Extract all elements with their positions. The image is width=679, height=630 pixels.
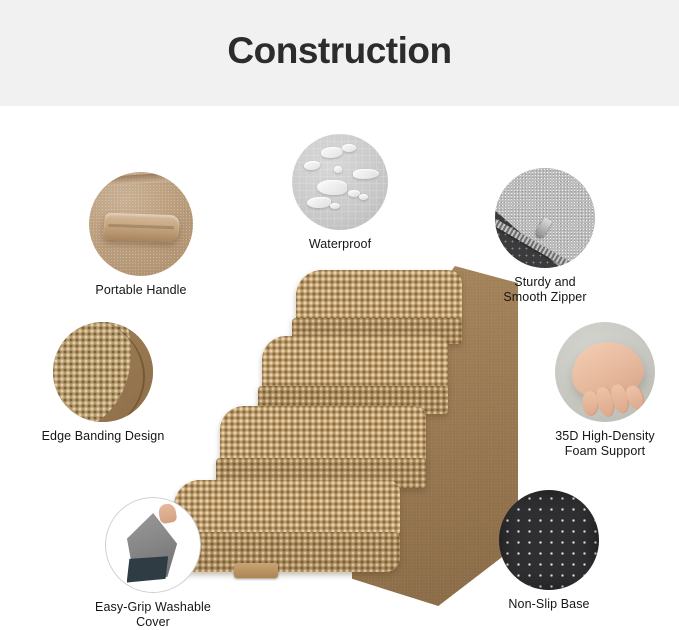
- foam-support-icon: [555, 322, 655, 422]
- washable-cover-icon: [105, 497, 201, 593]
- page-title: Construction: [0, 30, 679, 72]
- feature-label: 35D High-Density Foam Support: [532, 429, 678, 459]
- feature-label: Portable Handle: [76, 283, 206, 298]
- feature-label: Non-Slip Base: [484, 597, 614, 612]
- product-step-tread-3: [220, 406, 426, 464]
- feature-non-slip-base: Non-Slip Base: [484, 490, 614, 612]
- non-slip-base-icon: [499, 490, 599, 590]
- portable-handle-icon: [89, 172, 193, 276]
- feature-waterproof: Waterproof: [276, 134, 404, 252]
- product-step-tread-2: [262, 336, 448, 392]
- feature-label: Sturdy and Smooth Zipper: [481, 275, 609, 305]
- product-step-tread-1: [296, 270, 462, 324]
- feature-edge-banding-design: Edge Banding Design: [30, 322, 176, 444]
- edge-banding-icon: [53, 322, 153, 422]
- feature-sturdy-smooth-zipper: Sturdy and Smooth Zipper: [481, 168, 609, 305]
- feature-foam-support: 35D High-Density Foam Support: [532, 322, 678, 459]
- feature-label: Easy-Grip Washable Cover: [78, 600, 228, 630]
- infographic-stage: Portable Handle Waterproof: [0, 106, 679, 627]
- feature-label: Edge Banding Design: [30, 429, 176, 444]
- feature-easy-grip-washable-cover: Easy-Grip Washable Cover: [78, 497, 228, 630]
- feature-label: Waterproof: [276, 237, 404, 252]
- zipper-icon: [495, 168, 595, 268]
- waterproof-icon: [292, 134, 388, 230]
- product-brand-tag: [234, 563, 278, 578]
- feature-portable-handle: Portable Handle: [76, 172, 206, 298]
